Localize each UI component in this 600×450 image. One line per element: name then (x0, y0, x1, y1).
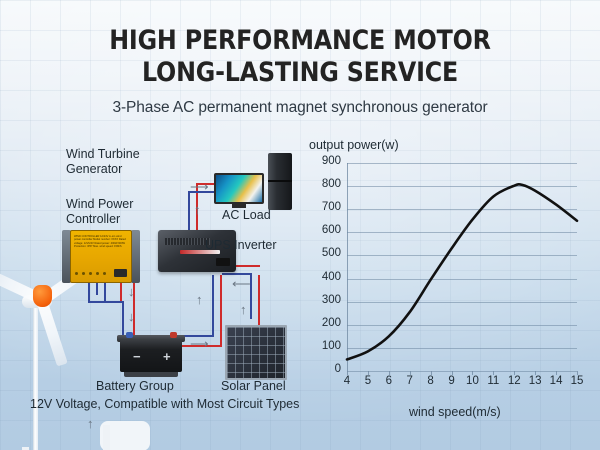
solar-panel-device (225, 325, 287, 380)
chart-gridline (347, 371, 577, 372)
label-wind-power-line2: Controller (66, 212, 120, 227)
chart-x-tick-label: 4 (344, 375, 350, 387)
chart-x-tick-label: 15 (571, 375, 584, 387)
chart-y-tick-label: 300 (322, 294, 341, 306)
chart-y-axis-label: output power(w) (309, 138, 399, 152)
chart-y-tick-label: 100 (322, 340, 341, 352)
chart-y-tick-label: 0 (335, 363, 341, 375)
chart-x-tickmark (431, 371, 432, 375)
turbine-pole-icon (33, 303, 38, 450)
flow-arrow-icon: ↑ (194, 203, 201, 216)
chart-x-tickmark (472, 371, 473, 375)
wire-positive (220, 275, 222, 347)
tv-icon (214, 173, 264, 204)
wire-negative (188, 191, 190, 231)
controller-port-icon (114, 269, 127, 277)
battery-group-device (120, 340, 182, 372)
chart-series-line (347, 163, 577, 371)
label-ups-inverter: UPS Inverter (205, 238, 277, 253)
flow-arrow-icon: ↑ (240, 303, 247, 316)
wire-positive (258, 275, 260, 327)
output-power-chart: output power(w) wind speed(m/s) 01002003… (305, 138, 595, 423)
flow-arrow-icon: ↓ (128, 285, 135, 298)
flow-arrow-icon: ⟶ (190, 337, 209, 350)
flow-arrow-icon: ⟵ (232, 277, 251, 290)
chart-x-tick-label: 14 (550, 375, 563, 387)
flow-arrow-icon: ↓ (128, 310, 135, 323)
chart-x-tick-label: 8 (427, 375, 433, 387)
chart-x-tickmark (535, 371, 536, 375)
flow-arrow-icon: ↑ (196, 293, 203, 306)
chart-x-tick-label: 6 (386, 375, 392, 387)
header: HIGH PERFORMANCE MOTOR LONG-LASTING SERV… (0, 0, 600, 117)
chart-x-tick-label: 9 (448, 375, 454, 387)
page-title-line-2: LONG-LASTING SERVICE (36, 58, 564, 88)
inverter-button-icon (216, 258, 230, 266)
chart-x-tickmark (452, 371, 453, 375)
page-title-line-1: HIGH PERFORMANCE MOTOR (36, 26, 564, 56)
flow-arrow-icon: ↑ (87, 417, 94, 430)
chart-x-tickmark (514, 371, 515, 375)
turbine-blade-icon (36, 297, 68, 367)
label-wind-power-line1: Wind Power (66, 197, 133, 212)
controller-label-print: WIND CONTROLLER 12/24V Li-ion wind power… (74, 235, 128, 249)
chart-y-tick-label: 600 (322, 224, 341, 236)
wire-negative (222, 273, 252, 275)
wire-negative (88, 283, 90, 303)
chart-x-tickmark (389, 371, 390, 375)
chart-x-tick-label: 7 (407, 375, 413, 387)
label-battery-group: Battery Group (96, 379, 174, 394)
label-wind-turbine-line2: Generator (66, 162, 122, 177)
label-solar-panel: Solar Panel (221, 379, 286, 394)
wire-negative (104, 283, 106, 303)
flow-arrow-icon: ⟶ (190, 180, 209, 193)
label-ac-load: AC Load (222, 208, 271, 223)
battery-positive-terminal (170, 332, 177, 338)
chart-y-tick-label: 700 (322, 201, 341, 213)
chart-x-tick-label: 5 (365, 375, 371, 387)
chart-y-tick-label: 400 (322, 271, 341, 283)
chart-x-tick-label: 13 (529, 375, 542, 387)
chart-y-tick-label: 800 (322, 178, 341, 190)
refrigerator-icon (268, 153, 292, 210)
chart-x-tickmark (410, 371, 411, 375)
chart-x-tickmark (368, 371, 369, 375)
wire-negative (96, 283, 98, 295)
wire-negative (88, 301, 124, 303)
chart-y-tick-label: 200 (322, 317, 341, 329)
turbine-hub-icon (33, 285, 52, 307)
controller-leds-icon (75, 272, 106, 275)
chart-x-tickmark (493, 371, 494, 375)
battery-positive-symbol: + (163, 349, 171, 364)
chart-x-tick-label: 12 (508, 375, 521, 387)
chart-x-tickmark (556, 371, 557, 375)
chart-y-tick-label: 500 (322, 247, 341, 259)
label-wind-turbine-line1: Wind Turbine (66, 147, 140, 162)
chart-y-tick-label: 900 (322, 155, 341, 167)
chart-x-axis-label: wind speed(m/s) (409, 405, 501, 419)
chart-x-tickmark (347, 371, 348, 375)
footer-caption: 12V Voltage, Compatible with Most Circui… (30, 397, 299, 411)
wire-positive (120, 283, 122, 301)
battery-negative-terminal (126, 332, 133, 338)
wire-negative (122, 301, 124, 339)
controller-mount-right (131, 230, 140, 283)
page-subtitle: 3-Phase AC permanent magnet synchronous … (0, 99, 600, 117)
chart-x-tickmark (577, 371, 578, 375)
wire-negative (212, 275, 214, 337)
chart-x-tick-label: 10 (466, 375, 479, 387)
chart-x-tick-label: 11 (487, 375, 499, 387)
battery-negative-symbol: − (133, 349, 141, 364)
battery-base (124, 372, 178, 377)
chart-plot-area: 0100200300400500600700800900 45678910111… (347, 163, 577, 371)
